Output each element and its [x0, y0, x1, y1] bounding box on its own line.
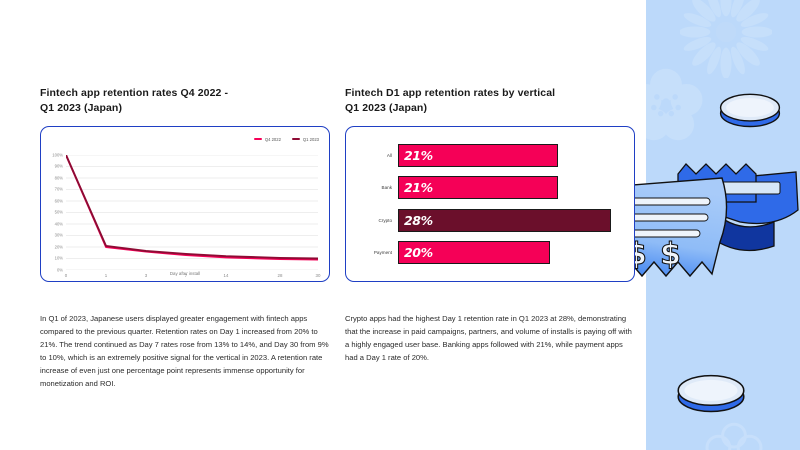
y-tick-label: 10% — [47, 256, 63, 261]
bar-value-label: 21% — [404, 180, 433, 195]
bar-value-label: 21% — [404, 148, 433, 163]
y-tick-label: 50% — [47, 210, 63, 215]
coin-icon — [715, 88, 785, 130]
bar-value-label: 28% — [404, 213, 433, 228]
bar-fill: 21% — [398, 144, 558, 167]
right-column: Fintech D1 app retention rates by vertic… — [345, 86, 635, 282]
coin-icon — [672, 368, 750, 416]
bar-category-label: All — [356, 153, 398, 158]
legend-item-q4-2022[interactable]: Q4 2022 — [254, 137, 281, 142]
legend-swatch-q4-2022 — [254, 138, 262, 140]
bar-row[interactable]: Bank 21% — [356, 176, 620, 199]
bar-value-label: 20% — [404, 245, 433, 260]
bar-row[interactable]: Payment 20% — [356, 241, 620, 264]
flower-icon — [680, 0, 772, 78]
slide-canvas: $ $ $ Fintech app retention rates Q4 202… — [0, 0, 800, 450]
left-chart-title: Fintech app retention rates Q4 2022 - Q1… — [40, 86, 330, 116]
bar-row[interactable]: Crypto 28% — [356, 209, 620, 232]
bar-chart-plot: All 21% Bank 21% C — [356, 139, 620, 269]
y-tick-label: 70% — [47, 187, 63, 192]
flower-icon — [704, 420, 764, 450]
svg-text:$: $ — [660, 237, 681, 272]
bar-category-label: Payment — [356, 250, 398, 255]
line-chart-legend: Q4 2022 Q1 2023 — [254, 137, 319, 142]
bar-category-label: Bank — [356, 185, 398, 190]
bar-track: 20% — [398, 241, 620, 264]
y-tick-label: 20% — [47, 244, 63, 249]
y-tick-label: 100% — [47, 152, 63, 157]
bar-track: 21% — [398, 176, 620, 199]
bar-track: 21% — [398, 144, 620, 167]
right-chart-title: Fintech D1 app retention rates by vertic… — [345, 86, 635, 116]
bar-category-label: Crypto — [356, 218, 398, 223]
x-axis-title: Day after install — [41, 271, 329, 276]
right-body-text: Crypto apps had the highest Day 1 retent… — [345, 312, 635, 364]
legend-item-q1-2023[interactable]: Q1 2023 — [292, 137, 319, 142]
legend-swatch-q1-2023 — [292, 138, 300, 140]
bar-fill: 28% — [398, 209, 611, 232]
bar-chart-card: All 21% Bank 21% C — [345, 126, 635, 282]
legend-label-q4-2022: Q4 2022 — [265, 137, 281, 142]
flower-icon — [646, 68, 704, 144]
line-chart-plot — [66, 155, 318, 270]
line-chart-card: Q4 2022 Q1 2023 100% 90% 80% 70% 60% 50%… — [40, 126, 330, 282]
y-tick-label: 90% — [47, 164, 63, 169]
y-tick-label: 40% — [47, 221, 63, 226]
bar-track: 28% — [398, 209, 620, 232]
left-body-text: In Q1 of 2023, Japanese users displayed … — [40, 312, 330, 390]
y-tick-label: 80% — [47, 175, 63, 180]
y-tick-label: 30% — [47, 233, 63, 238]
y-tick-label: 60% — [47, 198, 63, 203]
legend-label-q1-2023: Q1 2023 — [303, 137, 319, 142]
bar-fill: 21% — [398, 176, 558, 199]
bar-row[interactable]: All 21% — [356, 144, 620, 167]
left-column: Fintech app retention rates Q4 2022 - Q1… — [40, 86, 330, 282]
bar-fill: 20% — [398, 241, 550, 264]
